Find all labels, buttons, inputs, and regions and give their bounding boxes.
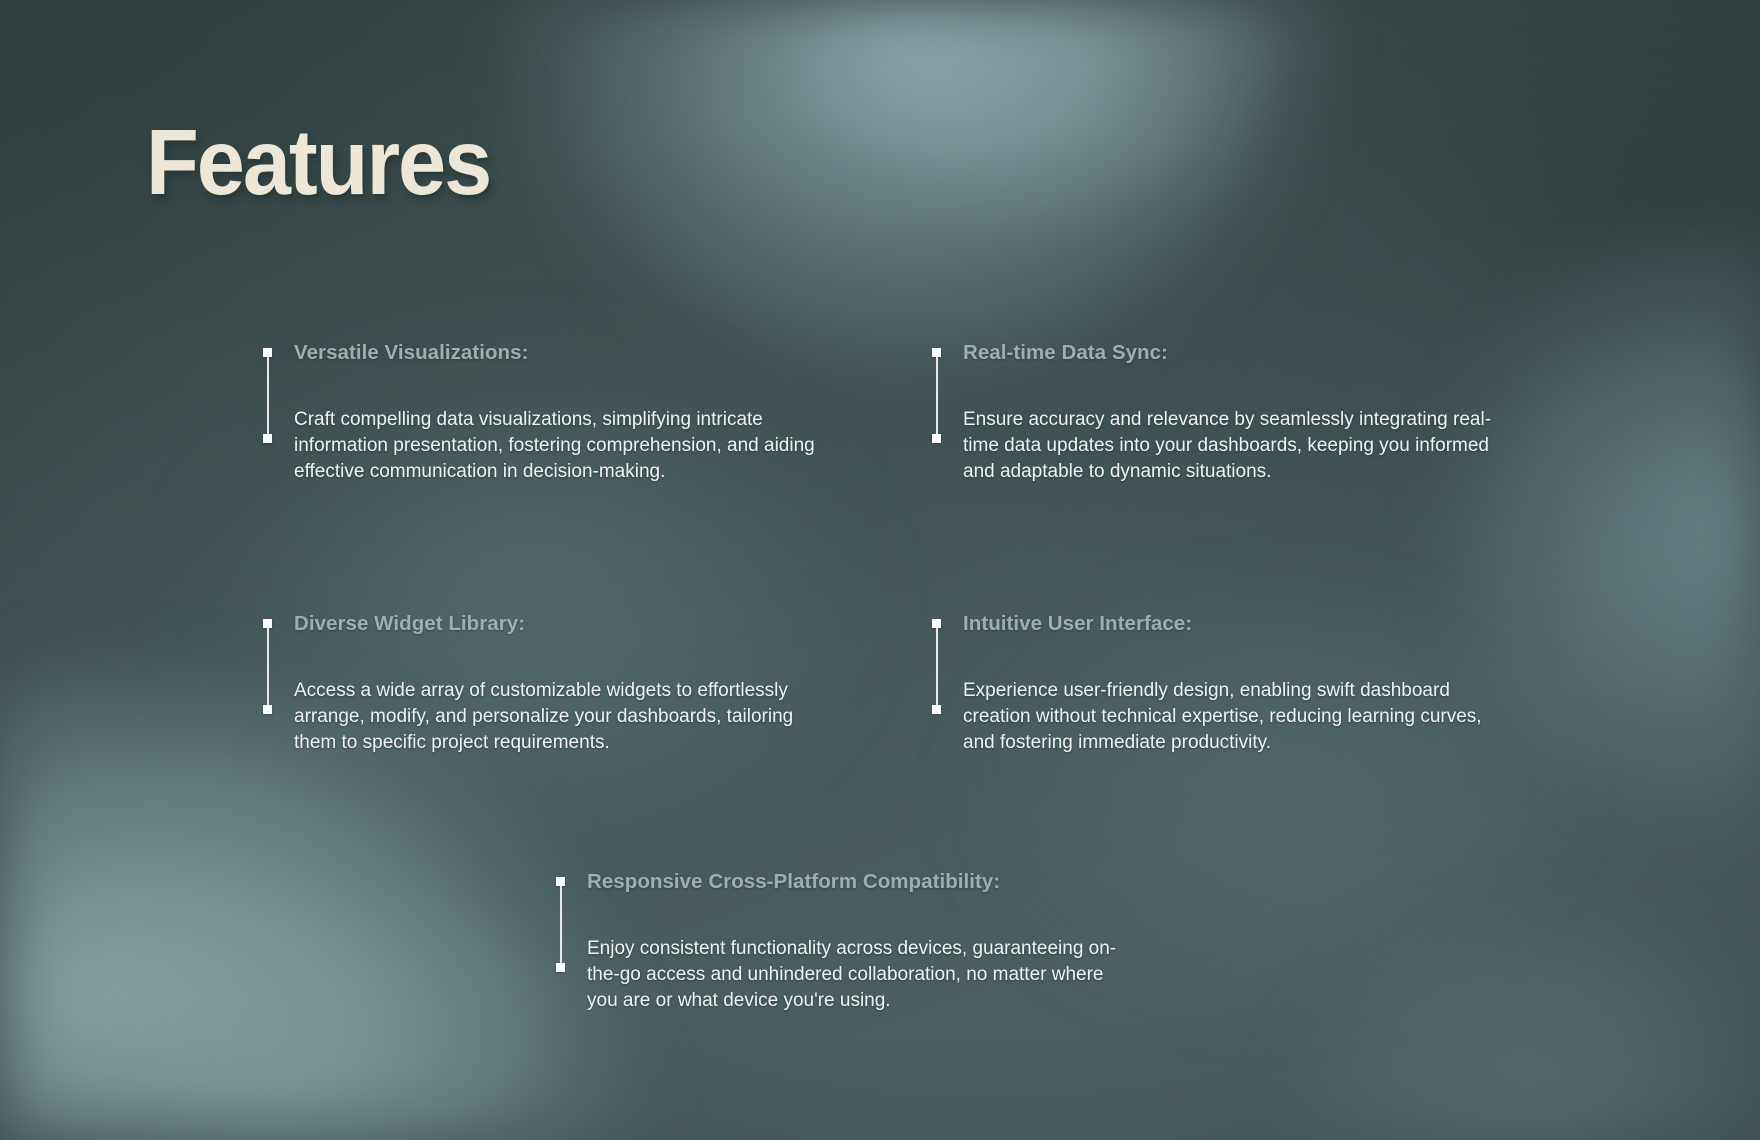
feature-text-block: Real-time Data Sync: Ensure accuracy and… [963,341,1492,485]
square-bullet-icon-bottom [556,963,565,972]
marker-connector-line [936,353,938,439]
feature-text-block: Responsive Cross-Platform Compatibility:… [587,870,1136,1014]
marker-connector-line [267,624,269,710]
square-bullet-icon-bottom [932,434,941,443]
feature-body: Craft compelling data visualizations, si… [294,407,823,485]
feature-text-block: Versatile Visualizations: Craft compelli… [294,341,823,485]
feature-marker-rail [556,877,566,972]
feature-item-intuitive-user-interface: Intuitive User Interface: Experience use… [932,612,1492,756]
square-bullet-icon-bottom [932,705,941,714]
square-bullet-icon-bottom [263,705,272,714]
feature-heading: Responsive Cross-Platform Compatibility: [587,870,1136,894]
feature-marker-rail [263,348,273,443]
feature-body: Experience user-friendly design, enablin… [963,678,1492,756]
feature-body: Ensure accuracy and relevance by seamles… [963,407,1492,485]
feature-heading: Real-time Data Sync: [963,341,1492,365]
feature-heading: Intuitive User Interface: [963,612,1492,636]
marker-connector-line [936,624,938,710]
square-bullet-icon-bottom [263,434,272,443]
feature-text-block: Diverse Widget Library: Access a wide ar… [294,612,823,756]
features-section: Features Versatile Visualizations: Craft… [0,0,1760,1140]
feature-item-diverse-widget-library: Diverse Widget Library: Access a wide ar… [263,612,823,756]
feature-marker-rail [263,619,273,714]
feature-body: Access a wide array of customizable widg… [294,678,823,756]
feature-marker-rail [932,619,942,714]
feature-item-responsive-cross-platform-compatibility: Responsive Cross-Platform Compatibility:… [556,870,1136,1014]
feature-item-real-time-data-sync: Real-time Data Sync: Ensure accuracy and… [932,341,1492,485]
feature-heading: Versatile Visualizations: [294,341,823,365]
feature-marker-rail [932,348,942,443]
feature-item-versatile-visualizations: Versatile Visualizations: Craft compelli… [263,341,823,485]
page-title: Features [146,116,490,209]
marker-connector-line [267,353,269,439]
feature-body: Enjoy consistent functionality across de… [587,936,1136,1014]
feature-text-block: Intuitive User Interface: Experience use… [963,612,1492,756]
feature-heading: Diverse Widget Library: [294,612,823,636]
marker-connector-line [560,882,562,968]
